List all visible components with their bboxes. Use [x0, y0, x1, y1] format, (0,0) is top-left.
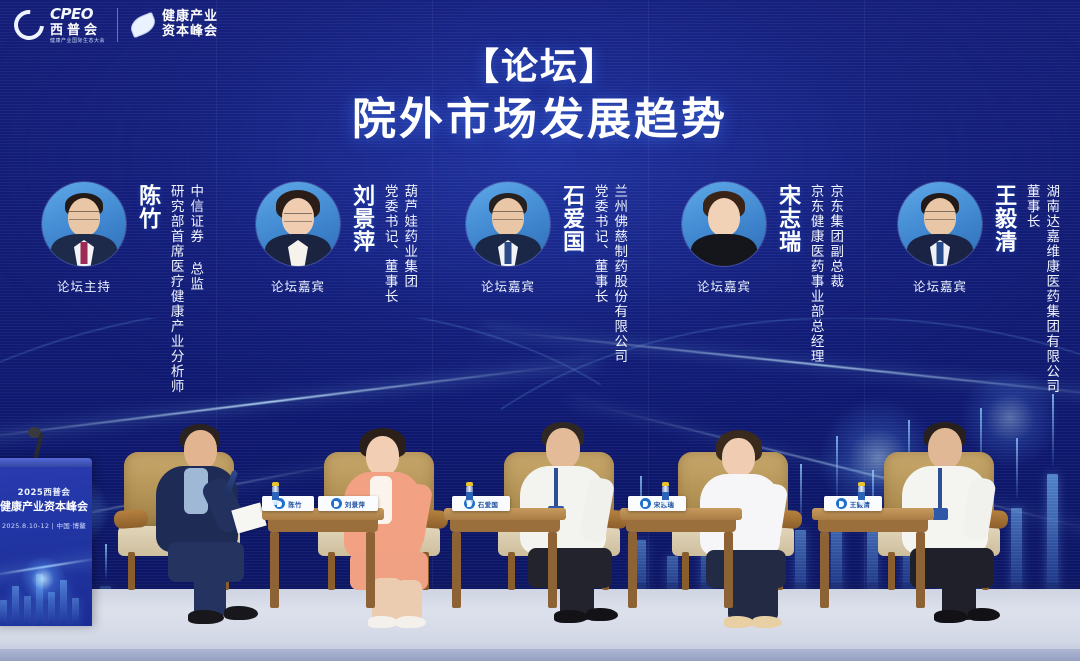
speaker-name: 王毅清: [992, 184, 1015, 253]
speaker-titles: 兰州佛慈制药股份有限公司 党委书记、董事长: [588, 184, 627, 364]
plaque-name: 刘景萍: [345, 499, 365, 509]
speaker-card-chen-zhu: 论坛主持 陈竹 中信证券 总监 研究部首席医疗健康产业分析师: [36, 182, 203, 394]
speaker-role: 论坛主持: [57, 276, 111, 295]
speaker-title-line: 党委书记、董事长: [590, 184, 608, 364]
name-plaque-chen-zhu: 陈竹: [262, 496, 314, 511]
speaker-title-line: 葫芦娃药业集团: [400, 184, 418, 304]
cpeo-logo-en: CPEO: [50, 7, 105, 22]
speaker-title-line: 京东集团副总裁: [826, 184, 844, 364]
speaker-role: 论坛嘉宾: [481, 276, 535, 295]
avatar: [682, 182, 766, 266]
speaker-role: 论坛嘉宾: [913, 276, 967, 295]
bottle-label: [662, 492, 669, 500]
side-table: [262, 508, 384, 608]
avatar: [42, 182, 126, 266]
summit-logo-line1: 健康产业: [162, 10, 218, 25]
speaker-card-liu-jingping: 论坛嘉宾 刘景萍 葫芦娃药业集团 党委书记、董事长: [250, 182, 417, 304]
speaker-name: 刘景萍: [350, 184, 373, 253]
speaker-role: 论坛嘉宾: [697, 276, 751, 295]
speaker-title-line: 党委书记、董事长: [380, 184, 398, 304]
side-table: [444, 508, 566, 608]
lanyard: [938, 468, 942, 510]
leaf-icon: [128, 12, 159, 38]
forum-title: 【论坛】 院外市场发展趋势: [0, 44, 1080, 147]
forum-title-line1: 【论坛】: [0, 44, 1080, 90]
speaker-titles: 葫芦娃药业集团 党委书记、董事长: [378, 184, 417, 304]
speaker-name: 陈竹: [136, 184, 159, 230]
cpeo-logo-cn: 西普会: [50, 24, 105, 37]
name-plaque-song-zhirui: 宋志瑞: [628, 496, 686, 511]
speaker-strip: 论坛主持 陈竹 中信证券 总监 研究部首席医疗健康产业分析师 论坛嘉宾 刘景萍: [0, 182, 1080, 422]
forum-title-line2: 院外市场发展趋势: [0, 92, 1080, 147]
speaker-title-line: 湖南达嘉维康医药集团有限公司: [1042, 184, 1060, 394]
speaker-role: 论坛嘉宾: [271, 276, 325, 295]
cpeo-logo-sub: 健康产业国际生态大会: [50, 39, 105, 44]
speaker-titles: 湖南达嘉维康医药集团有限公司 董事长: [1020, 184, 1059, 394]
speaker-title-line: 中信证券 总监: [186, 184, 204, 394]
side-table: [812, 508, 934, 608]
avatar: [466, 182, 550, 266]
avatar: [256, 182, 340, 266]
summit-logo: 健康产业 资本峰会: [130, 10, 218, 40]
stage-floor-edge: [0, 649, 1080, 661]
speaker-card-shi-aiguo: 论坛嘉宾 石爱国 兰州佛慈制药股份有限公司 党委书记、董事长: [460, 182, 627, 364]
speaker-titles: 中信证券 总监 研究部首席医疗健康产业分析师: [164, 184, 203, 394]
speaker-title-line: 研究部首席医疗健康产业分析师: [166, 184, 184, 394]
podium-candlestick-graphic: [0, 540, 92, 626]
speaker-name: 宋志瑞: [776, 184, 799, 253]
logo-divider: [117, 8, 118, 42]
speaker-card-song-zhirui: 论坛嘉宾 宋志瑞 京东集团副总裁 京东健康医药事业部总经理: [676, 182, 843, 364]
podium-date: 2025.8.10-12 | 中国·博鳌: [0, 520, 92, 530]
speaker-title-line: 京东健康医药事业部总经理: [806, 184, 824, 364]
plaque-name: 陈竹: [288, 499, 302, 509]
panelist-chen-zhu: [150, 424, 280, 624]
cpeo-logo: CPEO 西普会 健康产业国际生态大会: [14, 7, 105, 44]
podium-line1: 2025西普会: [2, 486, 86, 498]
conference-stage-photo: CPEO 西普会 健康产业国际生态大会 健康产业 资本峰会 【论坛】 院外市场发…: [0, 0, 1080, 661]
speaker-title-line: 董事长: [1022, 184, 1040, 394]
bottle-label: [272, 492, 279, 500]
badge: [932, 508, 948, 520]
speaker-title-line: 兰州佛慈制药股份有限公司: [610, 184, 628, 364]
podium-line2: 健康产业资本峰会: [0, 498, 92, 514]
name-plaque-wang-yiqing: 王毅清: [824, 496, 882, 511]
lanyard: [554, 468, 558, 508]
name-plaque-shi-aiguo: 石爱国: [452, 496, 510, 511]
ring-logo-icon: [8, 4, 50, 46]
avatar: [898, 182, 982, 266]
speaker-titles: 京东集团副总裁 京东健康医药事业部总经理: [804, 184, 843, 364]
plaque-name: 石爱国: [478, 499, 498, 509]
plaque-logo-icon: [836, 498, 847, 509]
plaque-logo-icon: [331, 498, 342, 509]
plaque-logo-icon: [640, 498, 651, 509]
side-table: [620, 508, 742, 608]
name-plaque-liu-jingping: 刘景萍: [318, 496, 378, 511]
podium-top-edge: [0, 458, 92, 467]
speaker-name: 石爱国: [560, 184, 583, 253]
bottle-label: [466, 492, 473, 500]
speaking-podium: 2025西普会 健康产业资本峰会 2025.8.10-12 | 中国·博鳌: [0, 458, 92, 626]
bottle-label: [858, 492, 865, 500]
summit-logo-line2: 资本峰会: [162, 25, 218, 40]
event-logo-bar: CPEO 西普会 健康产业国际生态大会 健康产业 资本峰会: [14, 4, 218, 46]
speaker-card-wang-yiqing: 论坛嘉宾 王毅清 湖南达嘉维康医药集团有限公司 董事长: [892, 182, 1059, 394]
